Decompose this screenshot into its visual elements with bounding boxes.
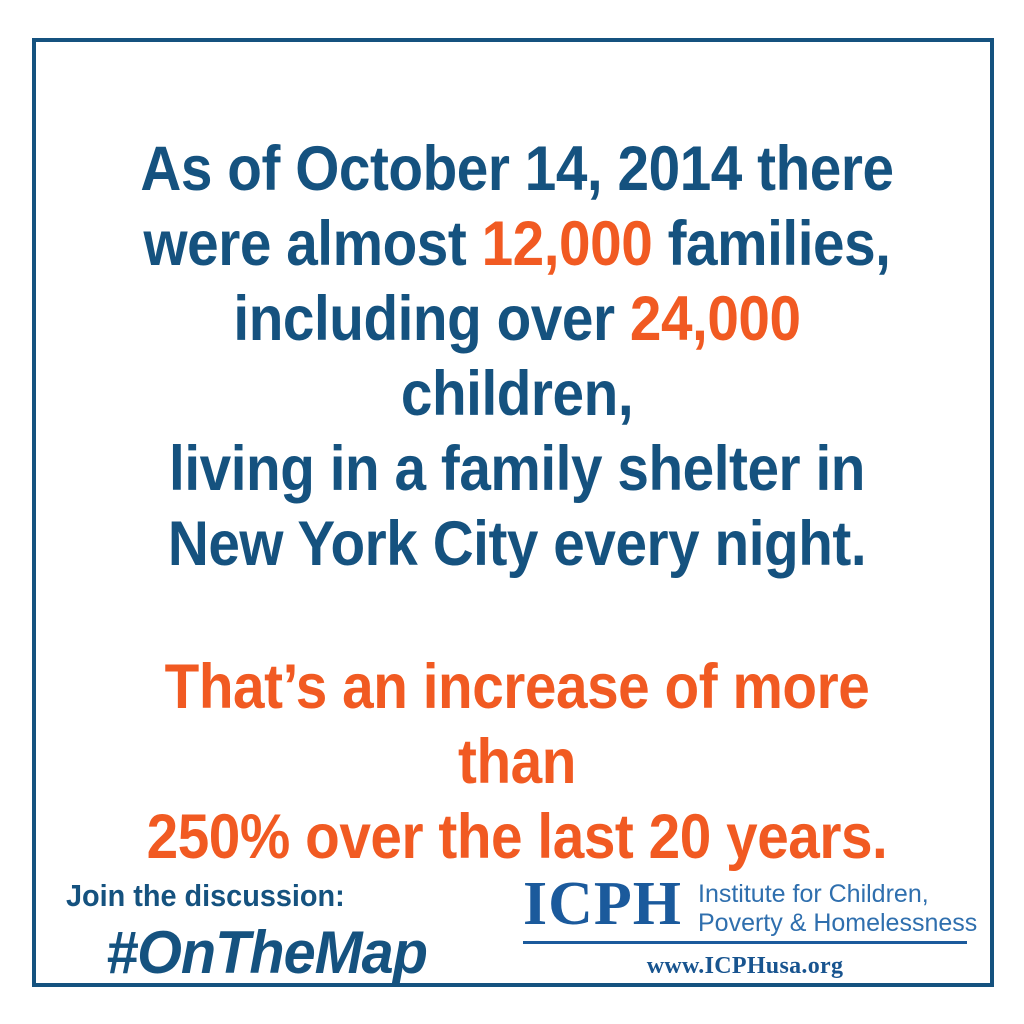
join-discussion-label: Join the discussion: bbox=[66, 878, 466, 914]
statement-line-3-prefix: including over bbox=[233, 284, 629, 354]
icph-tagline-line-1: Institute for Children, bbox=[698, 880, 977, 909]
statement-paragraph-secondary: That’s an increase of more than 250% ove… bbox=[138, 650, 896, 875]
statement-line-5: New York City every night. bbox=[138, 507, 896, 582]
statement-line-2-suffix: families, bbox=[652, 209, 890, 279]
statement-families-count: 12,000 bbox=[482, 209, 653, 279]
poster-footer: Join the discussion: #OnTheMap ICPH Inst… bbox=[36, 870, 998, 1020]
icph-wordmark: ICPH bbox=[523, 874, 698, 934]
statement-line-2-prefix: were almost bbox=[143, 209, 481, 279]
icph-logo-top-row: ICPH Institute for Children, Poverty & H… bbox=[523, 874, 973, 938]
statement-increase-line-2: 250% over the last 20 years. bbox=[138, 800, 896, 875]
infographic-poster: As of October 14, 2014 there were almost… bbox=[0, 0, 1024, 1024]
statement-line-2: were almost 12,000 families, bbox=[138, 207, 896, 282]
icph-tagline: Institute for Children, Poverty & Homele… bbox=[698, 874, 977, 938]
join-discussion-block: Join the discussion: #OnTheMap bbox=[66, 878, 496, 986]
poster-border-frame: As of October 14, 2014 there were almost… bbox=[32, 38, 994, 987]
statement-line-3: including over 24,000 children, bbox=[138, 282, 896, 432]
statement-children-count: 24,000 bbox=[630, 284, 801, 354]
icph-tagline-line-2: Poverty & Homelessness bbox=[698, 909, 977, 938]
icph-website-url[interactable]: www.ICPHusa.org bbox=[523, 952, 967, 980]
statement-line-1: As of October 14, 2014 there bbox=[138, 132, 896, 207]
icph-logo-lockup: ICPH Institute for Children, Poverty & H… bbox=[523, 874, 973, 980]
icph-logo-divider bbox=[523, 941, 967, 944]
statement-increase-line-1: That’s an increase of more than bbox=[138, 650, 896, 800]
hashtag-onthemap[interactable]: #OnTheMap bbox=[106, 920, 480, 986]
statement-block: As of October 14, 2014 there were almost… bbox=[138, 132, 896, 875]
statement-paragraph-primary: As of October 14, 2014 there were almost… bbox=[138, 132, 896, 582]
statement-line-3-suffix: children, bbox=[401, 359, 633, 429]
statement-line-4: living in a family shelter in bbox=[138, 432, 896, 507]
statement-line-1-text: As of October 14, 2014 there bbox=[140, 134, 893, 204]
